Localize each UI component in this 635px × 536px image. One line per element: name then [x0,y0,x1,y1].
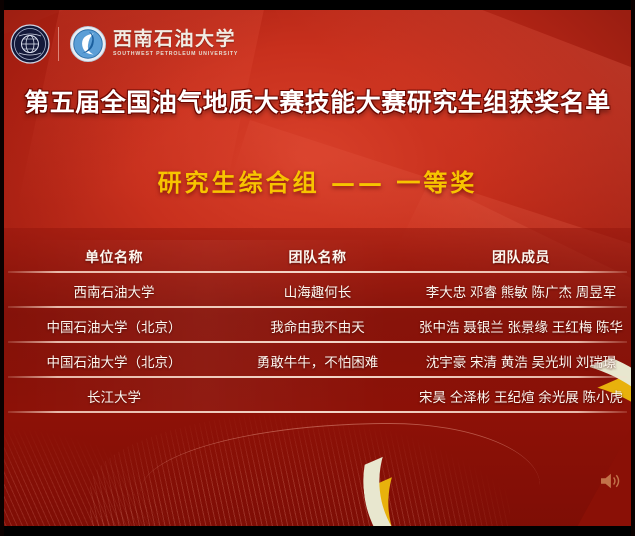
letterbox-right [631,0,635,536]
cell-members: 沈宇豪 宋清 黄浩 吴光圳 刘瑞璟 [415,351,627,371]
page-title: 第五届全国油气地质大赛技能大赛研究生组获奖名单 [0,83,635,119]
globe-emblem-icon [10,24,50,64]
university-name-cn: 西南石油大学 [113,30,238,49]
cell-team: 我命由我不由天 [220,316,415,336]
table-row: 西南石油大学 山海趣何长 李大忠 邓睿 熊敏 陈广杰 周昱军 [8,273,627,308]
cell-team: 山海趣何长 [220,281,415,301]
cell-team: 勇敢牛牛，不怕困难 [220,351,415,371]
cell-members: 李大忠 邓睿 熊敏 陈广杰 周昱军 [415,281,627,301]
logo-divider [58,27,59,61]
letterbox-left [0,0,4,536]
table-row: 中国石油大学（北京） 我命由我不由天 张中浩 聂银兰 张景缘 王红梅 陈华 [8,308,627,343]
column-header-unit: 单位名称 [8,247,220,267]
table-row: 长江大学 宋昊 仝泽彬 王纪煊 余光展 陈小虎 [8,378,627,413]
cell-members: 张中浩 聂银兰 张景缘 王红梅 陈华 [415,316,627,336]
logo-bar: 西南石油大学 SOUTHWEST PETROLEUM UNIVERSITY [10,20,238,68]
university-logo: 西南石油大学 SOUTHWEST PETROLEUM UNIVERSITY [69,25,238,63]
award-category-subtitle: 研究生综合组 —— 一等奖 [0,163,635,198]
letterbox-top [0,0,635,10]
award-table: 单位名称 团队名称 团队成员 西南石油大学 山海趣何长 李大忠 邓睿 熊敏 陈广… [8,240,627,413]
cell-unit: 长江大学 [8,386,220,406]
column-header-team: 团队名称 [220,247,415,267]
speaker-icon [599,472,621,490]
university-name-en: SOUTHWEST PETROLEUM UNIVERSITY [113,52,238,57]
letterbox-bottom [0,526,635,536]
cell-members: 宋昊 仝泽彬 王纪煊 余光展 陈小虎 [415,386,627,406]
table-row: 中国石油大学（北京） 勇敢牛牛，不怕困难 沈宇豪 宋清 黄浩 吴光圳 刘瑞璟 [8,343,627,378]
swirl-mark-icon [69,25,107,63]
cell-unit: 中国石油大学（北京） [8,316,220,336]
column-header-members: 团队成员 [415,247,627,267]
cell-unit: 西南石油大学 [8,281,220,301]
cell-unit: 中国石油大学（北京） [8,351,220,371]
slide-canvas: 西南石油大学 SOUTHWEST PETROLEUM UNIVERSITY 第五… [0,0,635,536]
table-header-row: 单位名称 团队名称 团队成员 [8,240,627,273]
university-name-block: 西南石油大学 SOUTHWEST PETROLEUM UNIVERSITY [113,30,238,57]
